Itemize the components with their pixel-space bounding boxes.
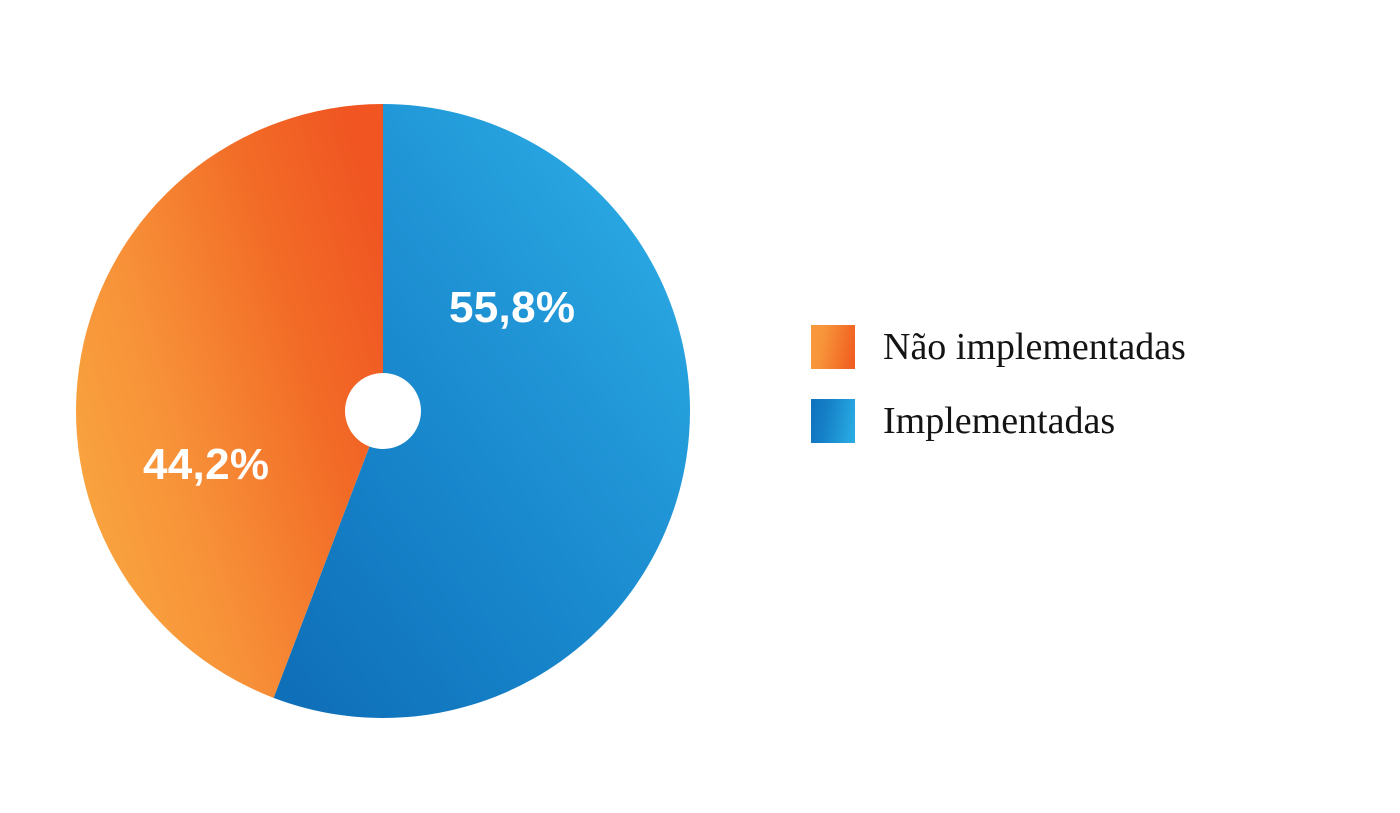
pie-plot-area: 55,8% 44,2%: [0, 0, 780, 813]
slice-data-label-implementadas: 55,8%: [449, 283, 575, 333]
pie-chart-figure: 55,8% 44,2% Não implementadas Implementa…: [0, 0, 1400, 813]
pie-svg: [0, 0, 780, 813]
legend-label-nao-implementadas: Não implementadas: [883, 328, 1186, 366]
legend-swatch-implementadas: [811, 399, 855, 443]
chart-legend: Não implementadas Implementadas: [811, 325, 1291, 443]
legend-item-nao-implementadas[interactable]: Não implementadas: [811, 325, 1291, 369]
legend-swatch-nao-implementadas: [811, 325, 855, 369]
legend-label-implementadas: Implementadas: [883, 402, 1115, 440]
donut-center-hole: [345, 373, 421, 449]
slice-data-label-nao-implementadas: 44,2%: [143, 440, 269, 490]
legend-item-implementadas[interactable]: Implementadas: [811, 399, 1291, 443]
